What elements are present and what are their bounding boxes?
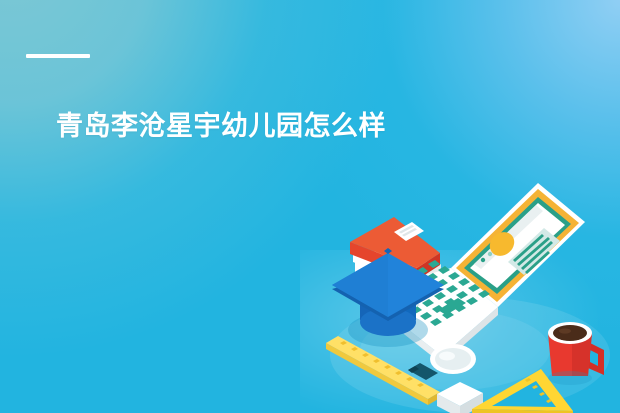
mug-coffee-shine — [559, 328, 571, 333]
page-canvas: 青岛李沧星宇幼儿园怎么样 — [0, 0, 620, 413]
laptop-dot-2 — [488, 252, 492, 256]
magnifier-lens-shine — [439, 352, 455, 361]
mug-bottom-shadow — [548, 371, 592, 385]
laptop-dot-1 — [481, 258, 485, 262]
education-illustration — [320, 180, 620, 413]
page-title: 青岛李沧星宇幼儿园怎么样 — [56, 110, 386, 142]
title-accent-rule — [26, 54, 90, 58]
mug-coffee — [553, 325, 587, 341]
magnifier-lens — [435, 348, 471, 370]
